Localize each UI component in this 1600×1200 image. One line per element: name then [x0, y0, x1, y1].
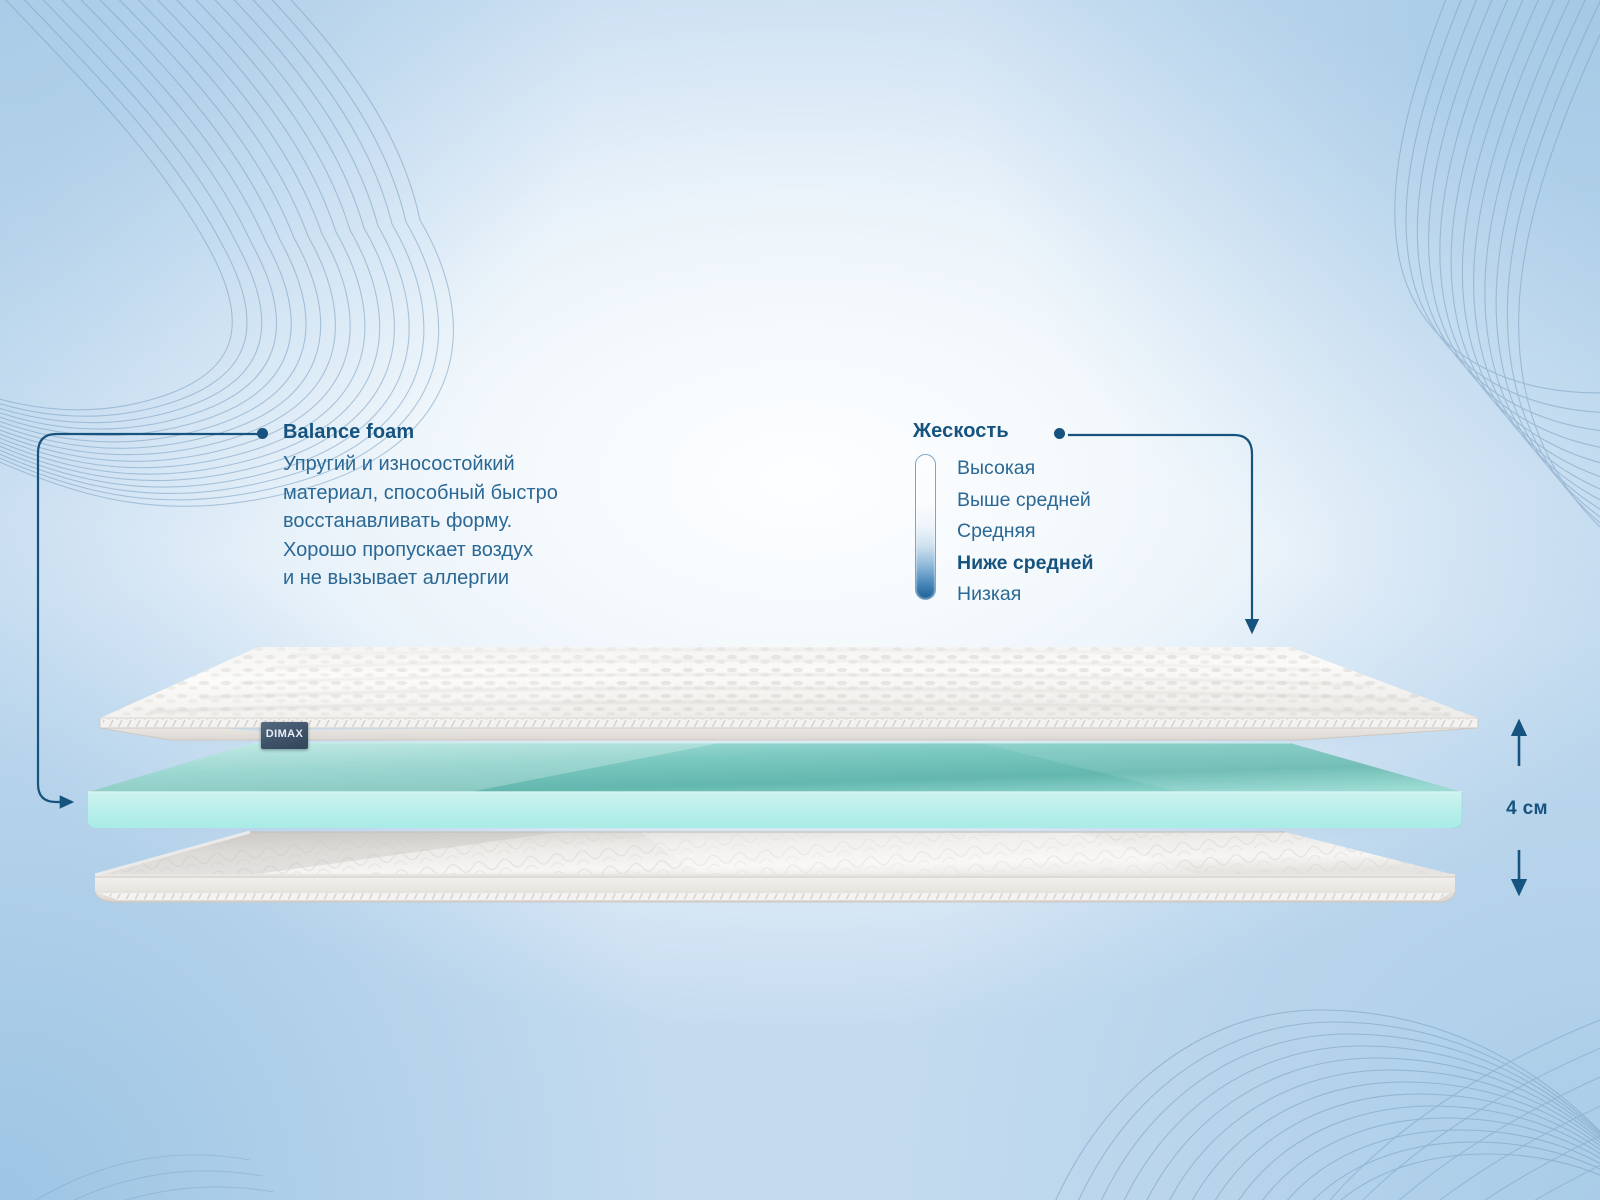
left-callout-dot — [257, 428, 268, 439]
thickness-dimension: 4 см — [1497, 710, 1557, 905]
firmness-level-high: Высокая — [957, 453, 1233, 485]
firmness-level-label: Ниже средней — [957, 552, 1094, 575]
callout-connectors — [0, 0, 1600, 1200]
firmness-gradient-bar — [915, 454, 936, 600]
description-line: материал, способный быстро — [283, 479, 673, 508]
firmness-scale: Высокая Выше средней Средняя Ниже средне… — [913, 453, 1233, 611]
dimension-label: 4 см — [1489, 798, 1565, 820]
description-line: восстанавливать форму. — [283, 507, 673, 536]
firmness-level-label: Средняя — [957, 520, 1036, 543]
firmness-level-label: Высокая — [957, 457, 1035, 480]
firmness-level-medium: Средняя — [957, 516, 1233, 548]
firmness-callout: Жескость Высокая Выше средней Средняя Ни… — [913, 420, 1233, 611]
left-callout-path — [38, 434, 262, 802]
firmness-title: Жескость — [913, 420, 1233, 443]
firmness-level-label: Выше средней — [957, 489, 1091, 512]
balance-foam-description: Упругий и износостойкий материал, способ… — [283, 450, 673, 593]
description-line: Хорошо пропускает воздух — [283, 536, 673, 565]
firmness-level-label: Низкая — [957, 583, 1021, 606]
balance-foam-title: Balance foam — [283, 420, 673, 444]
infographic-canvas: DIMAX Balance foam Упругий и износостойк… — [0, 0, 1600, 1200]
firmness-level-above-medium: Выше средней — [957, 485, 1233, 517]
right-callout-dot — [1054, 428, 1065, 439]
description-line: Упругий и износостойкий — [283, 450, 673, 479]
firmness-level-below-medium-selected: Ниже средней — [957, 548, 1233, 580]
balance-foam-callout: Balance foam Упругий и износостойкий мат… — [283, 420, 673, 593]
description-line: и не вызывает аллергии — [283, 564, 673, 593]
firmness-level-low: Низкая — [957, 579, 1233, 611]
